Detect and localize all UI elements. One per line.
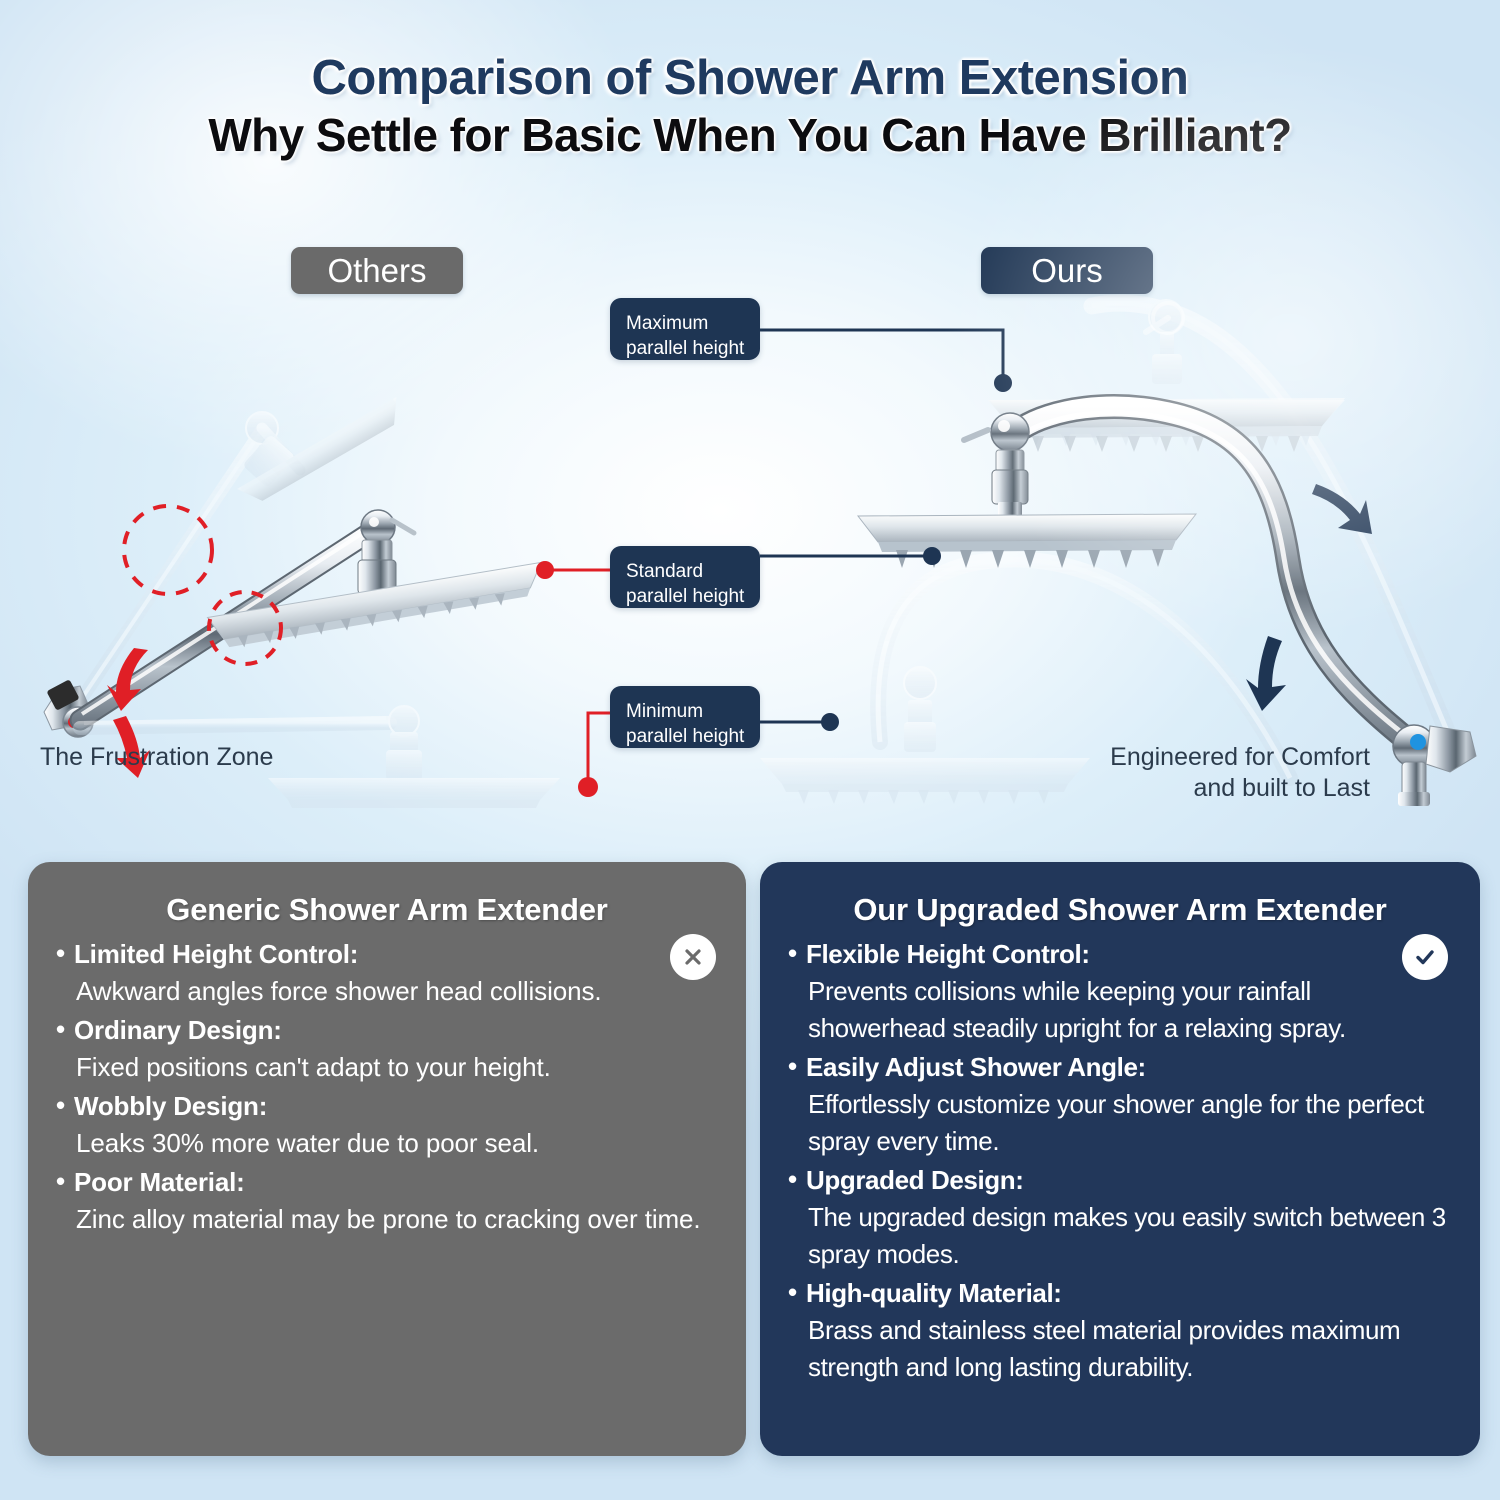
callout-line-1: Minimum xyxy=(626,699,746,724)
list-item: Limited Height Control: Awkward angles f… xyxy=(54,936,720,1010)
callout-line-2: parallel height xyxy=(626,724,746,749)
ghost-arm-raised xyxy=(70,397,408,716)
infographic-page: Comparison of Shower Arm Extension Why S… xyxy=(0,0,1500,1500)
feature-head: High-quality Material: xyxy=(786,1275,1454,1312)
callout-maximum-parallel-height: Maximum parallel height xyxy=(610,298,760,360)
caption-frustration-zone: The Frustration Zone xyxy=(40,742,273,773)
feature-head: Upgraded Design: xyxy=(786,1162,1454,1199)
caption-engineered-comfort: Engineered for Comfort and built to Last xyxy=(1110,742,1370,804)
caption-line-2: and built to Last xyxy=(1110,773,1370,804)
feature-head: Wobbly Design: xyxy=(54,1088,720,1125)
callout-standard-parallel-height: Standard parallel height xyxy=(610,546,760,608)
callout-minimum-parallel-height: Minimum parallel height xyxy=(610,686,760,748)
badge-others: Others xyxy=(291,247,463,294)
ours-product-illustration xyxy=(760,300,1476,806)
caption-line-1: Engineered for Comfort xyxy=(1110,742,1370,773)
card-title-upgraded: Our Upgraded Shower Arm Extender xyxy=(786,892,1454,928)
badge-ours: Ours xyxy=(981,247,1153,294)
feature-head: Ordinary Design: xyxy=(54,1012,720,1049)
feature-body: Leaks 30% more water due to poor seal. xyxy=(54,1125,720,1162)
callout-line-1: Standard xyxy=(626,559,746,584)
callout-line-1: Maximum xyxy=(626,311,746,336)
feature-body: Awkward angles force shower head collisi… xyxy=(54,973,720,1010)
list-item: Easily Adjust Shower Angle: Effortlessly… xyxy=(786,1049,1454,1160)
feature-body: Zinc alloy material may be prone to crac… xyxy=(54,1201,720,1238)
feature-body: Effortlessly customize your shower angle… xyxy=(786,1086,1454,1160)
list-item: Poor Material: Zinc alloy material may b… xyxy=(54,1164,720,1238)
feature-body: The upgraded design makes you easily swi… xyxy=(786,1199,1454,1273)
feature-head: Poor Material: xyxy=(54,1164,720,1201)
list-item: Wobbly Design: Leaks 30% more water due … xyxy=(54,1088,720,1162)
list-item: Ordinary Design: Fixed positions can't a… xyxy=(54,1012,720,1086)
feature-list-upgraded: Flexible Height Control: Prevents collis… xyxy=(786,936,1454,1386)
callout-line-2: parallel height xyxy=(626,336,746,361)
list-item: Upgraded Design: The upgraded design mak… xyxy=(786,1162,1454,1273)
comparison-card-generic: Generic Shower Arm Extender Limited Heig… xyxy=(28,862,746,1456)
page-subtitle: Why Settle for Basic When You Can Have B… xyxy=(0,111,1500,161)
comparison-card-upgraded: Our Upgraded Shower Arm Extender Flexibl… xyxy=(760,862,1480,1456)
list-item: Flexible Height Control: Prevents collis… xyxy=(786,936,1454,1047)
feature-head: Flexible Height Control: xyxy=(786,936,1454,973)
feature-head: Easily Adjust Shower Angle: xyxy=(786,1049,1454,1086)
feature-body: Fixed positions can't adapt to your heig… xyxy=(54,1049,720,1086)
card-title-generic: Generic Shower Arm Extender xyxy=(54,892,720,928)
callout-line-2: parallel height xyxy=(626,584,746,609)
feature-list-generic: Limited Height Control: Awkward angles f… xyxy=(54,936,720,1238)
page-title: Comparison of Shower Arm Extension xyxy=(0,52,1500,105)
feature-body: Brass and stainless steel material provi… xyxy=(786,1312,1454,1386)
feature-head: Limited Height Control: xyxy=(54,936,720,973)
feature-body: Prevents collisions while keeping your r… xyxy=(786,973,1454,1047)
list-item: High-quality Material: Brass and stainle… xyxy=(786,1275,1454,1386)
headline-block: Comparison of Shower Arm Extension Why S… xyxy=(0,52,1500,161)
